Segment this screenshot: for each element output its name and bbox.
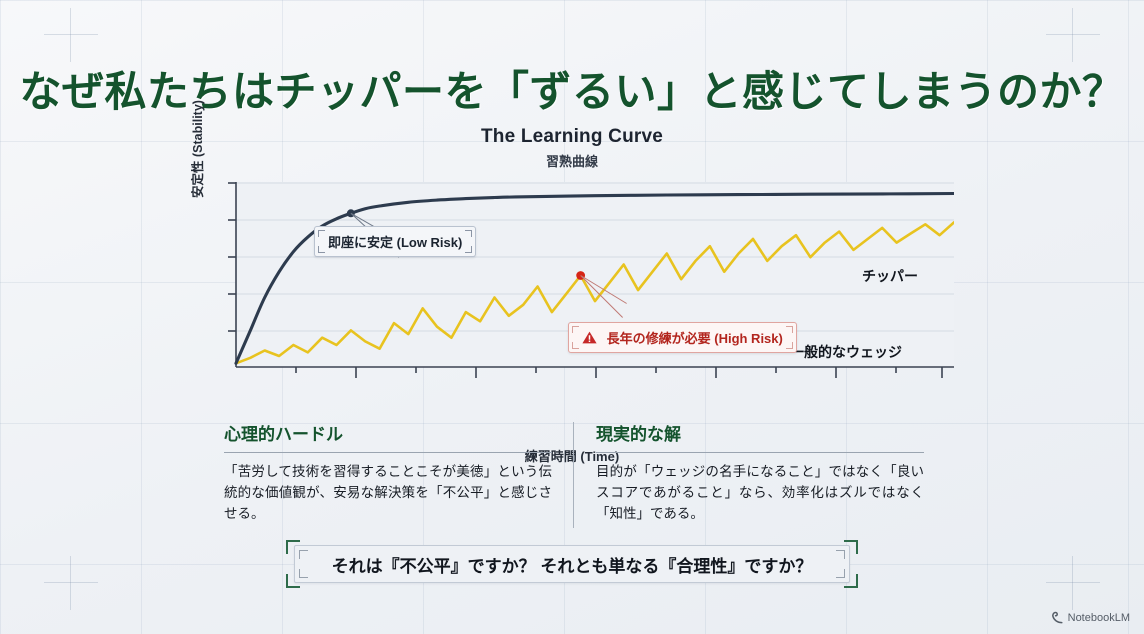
bracket-top-right bbox=[786, 326, 793, 333]
y-axis bbox=[228, 182, 236, 367]
series-label-wedge: 一般的なウェッジ bbox=[790, 342, 902, 362]
callout-low-risk: 即座に安定 (Low Risk) bbox=[314, 226, 476, 257]
slide-title: なぜ私たちはチッパーを「ずるい」と感じてしまうのか？ bbox=[0, 58, 1144, 119]
closing-question-frame: それは『不公平』ですか？ それとも単なる『合理性』ですか？ bbox=[286, 540, 858, 588]
slide-canvas: なぜ私たちはチッパーを「ずるい」と感じてしまうのか？ The Learning … bbox=[0, 0, 1144, 634]
corner-mark-bottom-left bbox=[44, 556, 98, 610]
closing-question-banner: それは『不公平』ですか？ それとも単なる『合理性』ですか？ bbox=[294, 545, 850, 583]
notebooklm-logo-icon bbox=[1050, 611, 1063, 624]
insight-columns: 心理的ハードル 「苦労して技術を習得することこそが美徳」という伝統的な価値観が、… bbox=[224, 420, 924, 530]
series-label-chipper: チッパー bbox=[862, 266, 918, 286]
corner-mark-bottom-right bbox=[1046, 556, 1100, 610]
inner-bracket-top-right bbox=[836, 550, 845, 559]
callout-high-risk: 長年の修練が必要 (High Risk) bbox=[568, 322, 797, 353]
learning-curve-chart: The Learning Curve 習熟曲線 安定性 (Stability) bbox=[190, 126, 954, 412]
bracket-bottom-left bbox=[572, 342, 579, 349]
notebooklm-watermark: NotebookLM bbox=[1050, 611, 1130, 624]
x-axis bbox=[236, 367, 954, 378]
bracket-top-left bbox=[572, 326, 579, 333]
chart-y-axis-label: 安定性 (Stability) bbox=[187, 74, 206, 224]
corner-mark-top-left bbox=[44, 8, 98, 62]
bracket-bottom-right bbox=[786, 342, 793, 349]
bracket-bottom-left bbox=[318, 246, 325, 253]
bracket-top-right bbox=[465, 230, 472, 237]
callout-low-risk-text: 即座に安定 (Low Risk) bbox=[328, 235, 462, 250]
insight-heading: 心理的ハードル bbox=[224, 420, 552, 453]
inner-bracket-bottom-left bbox=[299, 569, 308, 578]
insight-heading: 現実的な解 bbox=[596, 420, 924, 453]
watermark-label: NotebookLM bbox=[1068, 612, 1130, 624]
callout-high-risk-text: 長年の修練が必要 (High Risk) bbox=[607, 331, 783, 346]
bracket-top-left bbox=[318, 230, 325, 237]
inner-bracket-bottom-right bbox=[836, 569, 845, 578]
inner-bracket-top-left bbox=[299, 550, 308, 559]
insight-column-practical: 現実的な解 目的が「ウェッジの名手になること」ではなく「良いスコアであがること」… bbox=[596, 420, 924, 530]
chart-subtitle: 習熟曲線 bbox=[190, 151, 954, 170]
insight-body: 「苦労して技術を習得することこそが美徳」という伝統的な価値観が、安易な解決策を「… bbox=[224, 462, 552, 525]
insight-column-psychological: 心理的ハードル 「苦労して技術を習得することこそが美徳」という伝統的な価値観が、… bbox=[224, 420, 552, 530]
insight-body: 目的が「ウェッジの名手になること」ではなく「良いスコアであがること」なら、効率化… bbox=[596, 462, 924, 525]
chart-title: The Learning Curve bbox=[190, 126, 954, 148]
chart-plot-area: 安定性 (Stability) bbox=[190, 182, 954, 392]
warning-triangle-icon bbox=[582, 331, 597, 344]
closing-question-text: それは『不公平』ですか？ それとも単なる『合理性』ですか？ bbox=[332, 552, 813, 577]
bracket-bottom-right bbox=[465, 246, 472, 253]
corner-mark-top-right bbox=[1046, 8, 1100, 62]
column-divider bbox=[552, 420, 596, 530]
